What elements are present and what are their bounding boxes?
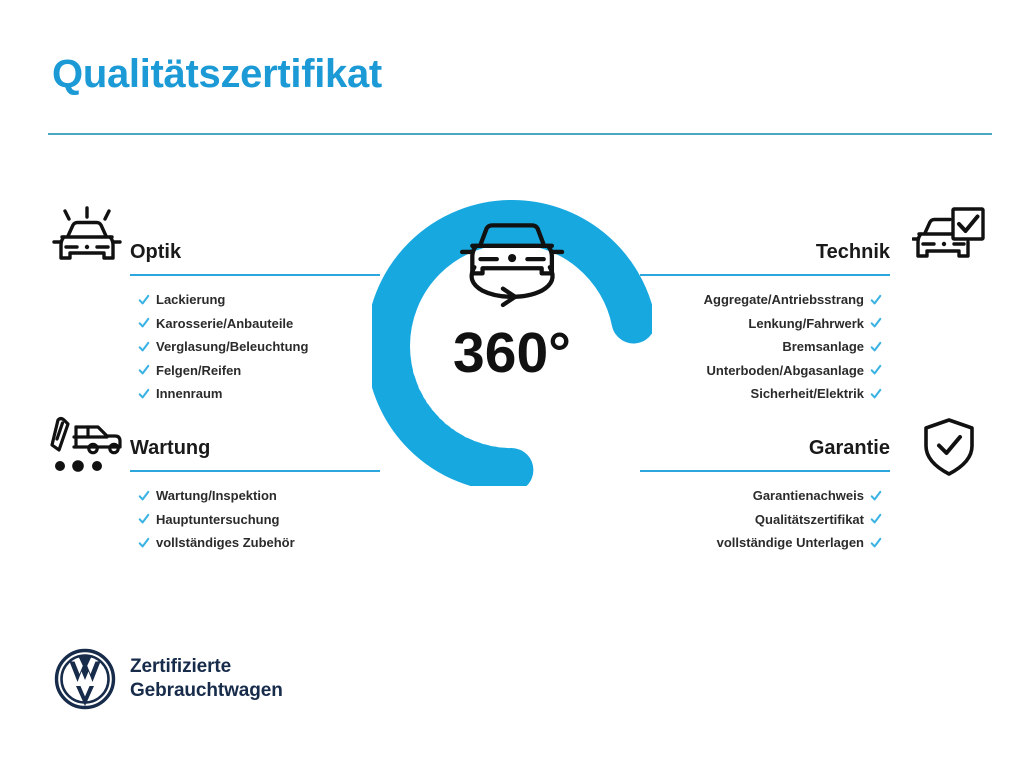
checklist-item-label: vollständige Unterlagen [717,531,864,555]
section-header-wartung: Wartung [130,434,380,474]
section-wartung: Wartung Wartung/InspektionHauptuntersuch… [130,434,380,555]
checklist-optik: LackierungKarosserie/AnbauteileVerglasun… [130,288,380,406]
checklist-item: Innenraum [138,382,380,406]
checklist-item: Lenkung/Fahrwerk [640,312,882,336]
check-icon [138,490,150,502]
section-header-technik: Technik [640,238,890,278]
checklist-item: Aggregate/Antriebsstrang [640,288,882,312]
check-icon [138,294,150,306]
car-shine-icon [48,206,126,270]
checklist-item-label: Unterboden/Abgasanlage [707,359,864,383]
check-icon [870,537,882,549]
check-icon [870,513,882,525]
checklist-item-label: Hauptuntersuchung [156,508,280,532]
checklist-item-label: Garantienachweis [753,484,864,508]
check-icon [870,388,882,400]
check-icon [870,364,882,376]
vw-wordmark-line2: Gebrauchtwagen [130,679,283,703]
check-icon [870,341,882,353]
checklist-item-label: Verglasung/Beleuchtung [156,335,308,359]
checklist-item: Garantienachweis [640,484,882,508]
checklist-item: Unterboden/Abgasanlage [640,359,882,383]
section-technik: Technik Aggregate/AntriebsstrangLenkung/… [640,238,890,406]
checklist-item: Sicherheit/Elektrik [640,382,882,406]
page-title: Qualitätszertifikat [52,52,382,96]
certificate-page: Qualitätszertifikat [0,0,1024,768]
section-header-optik: Optik [130,238,380,278]
checklist-item: Verglasung/Beleuchtung [138,335,380,359]
section-underline [640,470,890,472]
checklist-item-label: Aggregate/Antriebsstrang [704,288,864,312]
checklist-item-label: Felgen/Reifen [156,359,241,383]
section-garantie: Garantie GarantienachweisQualitätszertif… [640,434,890,555]
checklist-item: Wartung/Inspektion [138,484,380,508]
checklist-item: Hauptuntersuchung [138,508,380,532]
checklist-garantie: GarantienachweisQualitätszertifikatvolls… [640,484,890,555]
title-divider [48,133,992,135]
checklist-item: Bremsanlage [640,335,882,359]
check-icon [138,537,150,549]
section-underline [130,274,380,276]
section-title: Garantie [640,434,890,462]
checklist-item-label: Lackierung [156,288,225,312]
checklist-item: Lackierung [138,288,380,312]
section-title: Optik [130,238,380,266]
checklist-item-label: vollständiges Zubehör [156,531,295,555]
checklist-item: vollständige Unterlagen [640,531,882,555]
vw-wordmark: Zertifizierte Gebrauchtwagen [130,655,283,703]
check-icon [138,364,150,376]
check-icon [138,317,150,329]
checklist-item: vollständiges Zubehör [138,531,380,555]
check-icon [870,490,882,502]
vw-logo-lockup: Zertifizierte Gebrauchtwagen [54,648,283,710]
checklist-item: Karosserie/Anbauteile [138,312,380,336]
shield-check-icon [918,416,980,478]
checklist-item-label: Sicherheit/Elektrik [751,382,864,406]
check-icon [870,317,882,329]
vw-wordmark-line1: Zertifizierte [130,655,283,679]
checklist-item: Qualitätszertifikat [640,508,882,532]
checklist-item-label: Karosserie/Anbauteile [156,312,293,336]
section-header-garantie: Garantie [640,434,890,474]
checklist-item-label: Wartung/Inspektion [156,484,277,508]
checklist-technik: Aggregate/AntriebsstrangLenkung/Fahrwerk… [640,288,890,406]
section-underline [640,274,890,276]
section-title: Technik [640,238,890,266]
checklist-item-label: Bremsanlage [782,335,864,359]
checklist-item-label: Innenraum [156,382,222,406]
vw-logo [54,648,116,710]
gebrauchtwagen-check-badge: Gebrauchtwagen-Check 360° [372,196,652,486]
section-optik: Optik LackierungKarosserie/AnbauteileVer… [130,238,380,406]
car-service-tool-icon [48,414,126,476]
check-icon [870,294,882,306]
check-icon [138,513,150,525]
badge-center-label: 360° [453,321,571,385]
checklist-item-label: Lenkung/Fahrwerk [748,312,864,336]
check-icon [138,388,150,400]
section-underline [130,470,380,472]
car-checkbox-icon [912,206,986,268]
section-title: Wartung [130,434,380,462]
checklist-item-label: Qualitätszertifikat [755,508,864,532]
checklist-wartung: Wartung/InspektionHauptuntersuchungvolls… [130,484,380,555]
check-icon [138,341,150,353]
checklist-item: Felgen/Reifen [138,359,380,383]
